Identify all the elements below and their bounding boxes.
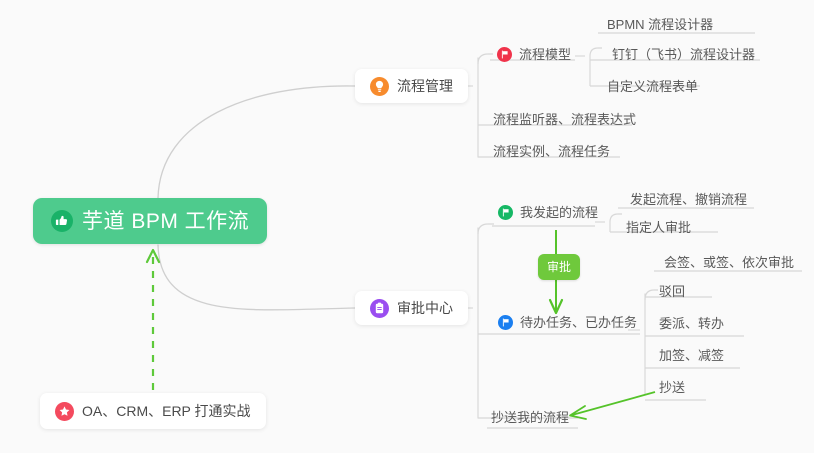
node-add-remove-sign[interactable]: 加签、减签: [653, 342, 731, 369]
node-add-remove-sign-label: 加签、减签: [659, 349, 724, 362]
branch-process-management[interactable]: 流程管理: [355, 69, 468, 103]
flag-blue-icon: [498, 315, 513, 330]
node-instance-task[interactable]: 流程实例、流程任务: [487, 138, 617, 165]
node-assignee-approve-label: 指定人审批: [626, 221, 691, 234]
thumbs-up-icon: [51, 210, 73, 232]
wire-root-to-process-management: [158, 86, 355, 198]
footnote-dashed-link: [147, 250, 159, 390]
flag-red-icon: [497, 47, 512, 62]
footnote-node[interactable]: OA、CRM、ERP 打通实战: [40, 393, 266, 429]
branch-approval-center[interactable]: 审批中心: [355, 291, 468, 325]
clipboard-icon: [370, 299, 389, 318]
lightbulb-icon: [370, 77, 389, 96]
node-cc[interactable]: 抄送: [653, 374, 692, 401]
node-process-model-label: 流程模型: [519, 48, 571, 61]
wire-ac-spine-curve-top: [478, 224, 494, 234]
approval-tag-label: 审批: [547, 261, 571, 273]
node-custom-form[interactable]: 自定义流程表单: [601, 73, 705, 100]
root-node[interactable]: 芋道 BPM 工作流: [33, 198, 267, 244]
node-dingtalk-designer-label: 钉钉（飞书）流程设计器: [612, 48, 755, 61]
node-cc-to-me-label: 抄送我的流程: [491, 411, 569, 424]
node-countersign-label: 会签、或签、依次审批: [664, 256, 794, 269]
node-my-initiated[interactable]: 我发起的流程: [494, 199, 605, 226]
node-todo-done-label: 待办任务、已办任务: [520, 316, 637, 329]
node-start-cancel-label: 发起流程、撤销流程: [630, 193, 747, 206]
node-bpmn-designer-label: BPMN 流程设计器: [607, 18, 713, 31]
node-delegate-transfer-label: 委派、转办: [659, 317, 724, 330]
cc-link-arrow: [570, 392, 655, 419]
footnote-label: OA、CRM、ERP 打通实战: [82, 404, 251, 418]
wire-root-to-approval-center: [158, 245, 355, 310]
node-dingtalk-designer[interactable]: 钉钉（飞书）流程设计器: [606, 41, 762, 68]
approval-tag[interactable]: 审批: [538, 254, 580, 280]
node-todo-done[interactable]: 待办任务、已办任务: [494, 309, 644, 336]
star-icon: [55, 402, 74, 421]
node-reject[interactable]: 驳回: [653, 278, 692, 305]
node-listener-expression[interactable]: 流程监听器、流程表达式: [487, 106, 643, 133]
node-my-initiated-label: 我发起的流程: [520, 206, 598, 219]
branch-process-management-label: 流程管理: [397, 79, 453, 93]
node-reject-label: 驳回: [659, 285, 685, 298]
branch-approval-center-label: 审批中心: [397, 301, 453, 315]
node-bpmn-designer[interactable]: BPMN 流程设计器: [601, 11, 720, 38]
node-listener-expression-label: 流程监听器、流程表达式: [493, 113, 636, 126]
node-cc-label: 抄送: [659, 381, 685, 394]
mindmap-canvas: 芋道 BPM 工作流 OA、CRM、ERP 打通实战 流程管理: [0, 0, 814, 453]
node-start-cancel[interactable]: 发起流程、撤销流程: [624, 186, 754, 213]
node-instance-task-label: 流程实例、流程任务: [493, 145, 610, 158]
flag-green-icon: [498, 205, 513, 220]
wire-pm-spine-curve-top: [478, 54, 493, 64]
node-custom-form-label: 自定义流程表单: [607, 80, 698, 93]
node-assignee-approve[interactable]: 指定人审批: [620, 214, 698, 241]
node-delegate-transfer[interactable]: 委派、转办: [653, 310, 731, 337]
wire-model-spine-curve: [590, 48, 602, 56]
node-process-model[interactable]: 流程模型: [493, 41, 578, 68]
node-cc-to-me[interactable]: 抄送我的流程: [485, 404, 576, 431]
root-label: 芋道 BPM 工作流: [82, 211, 249, 232]
node-countersign[interactable]: 会签、或签、依次审批: [658, 249, 801, 276]
